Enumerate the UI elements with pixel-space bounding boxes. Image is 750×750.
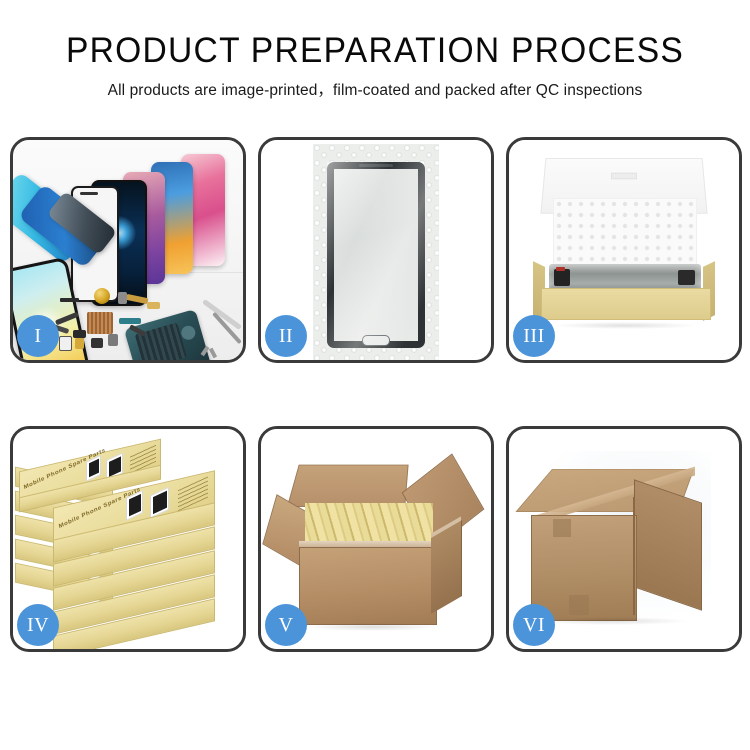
- step-panel-3[interactable]: III: [506, 137, 742, 363]
- white-foam-padding: [553, 198, 697, 270]
- gold-connector-part: [75, 338, 84, 349]
- wrapped-phone-screen: [327, 162, 425, 348]
- sim-tray-part: [59, 336, 72, 351]
- drop-shadow: [307, 623, 437, 631]
- speaker-module-icon: [94, 288, 110, 304]
- carton-tab-upper: [553, 519, 571, 537]
- camera-module-part: [91, 338, 103, 348]
- page-subtitle: All products are image-printed，film-coat…: [0, 80, 750, 102]
- step-panel-4[interactable]: Mobile Phone Spare Parts Mobile Phone Sp…: [10, 426, 246, 652]
- step-badge-6: VI: [513, 604, 555, 646]
- copper-contact-grid: [87, 312, 113, 334]
- step-panel-6[interactable]: VI: [506, 426, 742, 652]
- earpiece-mesh: [60, 298, 79, 302]
- flex-cable-teal: [119, 318, 141, 324]
- carton-corner-seam: [633, 497, 635, 615]
- step-panel-2[interactable]: II: [258, 137, 494, 363]
- carton-front-panel: [299, 547, 437, 625]
- step-badge-1: I: [17, 315, 59, 357]
- step-badge-3: III: [513, 315, 555, 357]
- carton-tab-lower: [569, 595, 589, 615]
- flex-cable-gold-2: [147, 302, 160, 309]
- step-panel-5[interactable]: V: [258, 426, 494, 652]
- vibrator-motor-part: [108, 334, 118, 346]
- drop-shadow: [537, 617, 687, 625]
- carton-flap-back: [287, 465, 409, 507]
- box-front-panel: [541, 288, 711, 320]
- page-header: PRODUCT PREPARATION PROCESS All products…: [0, 0, 750, 102]
- metal-bracket: [118, 292, 127, 304]
- carton-right-panel: [634, 479, 702, 610]
- step-badge-4: IV: [17, 604, 59, 646]
- screen-connector-right: [678, 270, 695, 285]
- step-panel-1[interactable]: I: [10, 137, 246, 363]
- drop-shadow: [555, 322, 695, 329]
- step-badge-5: V: [265, 604, 307, 646]
- process-steps-grid: I II III: [10, 137, 742, 652]
- step-badge-2: II: [265, 315, 307, 357]
- box-lid-tab: [611, 173, 637, 180]
- page-title: PRODUCT PREPARATION PROCESS: [15, 31, 735, 71]
- shield-plate-part: [73, 330, 86, 338]
